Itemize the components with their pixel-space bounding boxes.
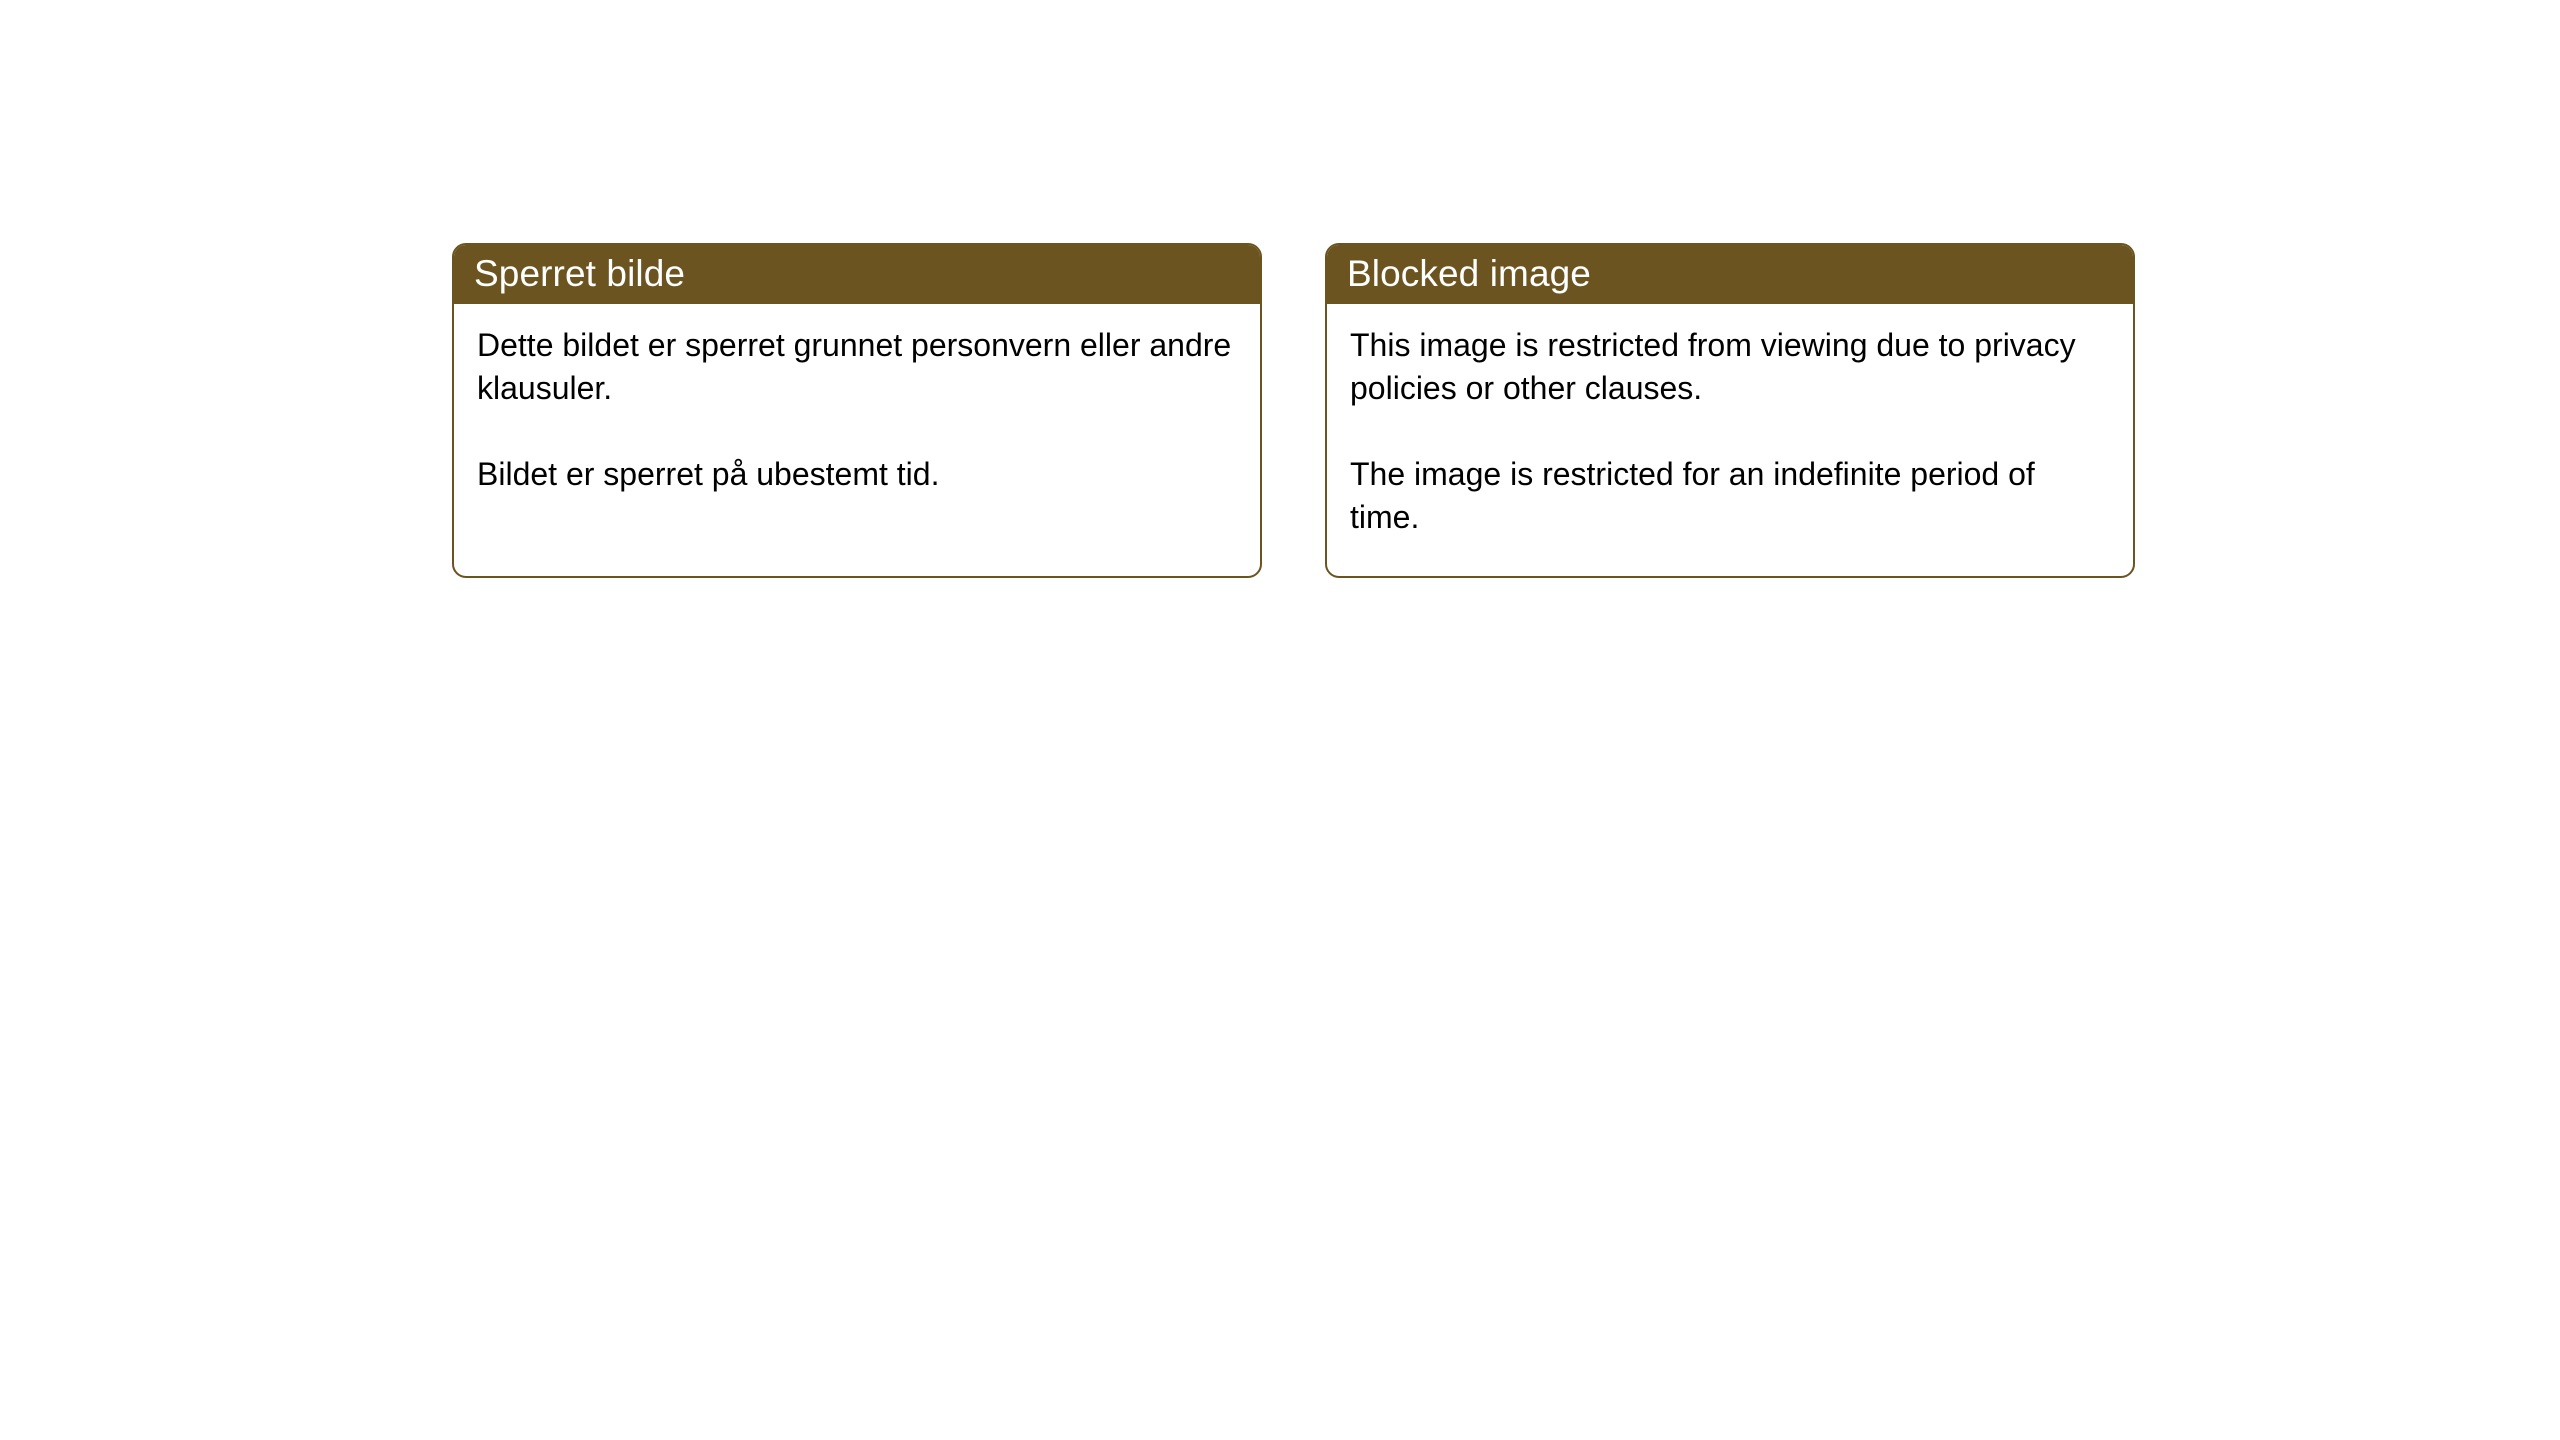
panel-header-english: Blocked image	[1325, 243, 2135, 304]
panel-paragraph-english-1: This image is restricted from viewing du…	[1350, 324, 2109, 410]
blocked-image-notice-area: Sperret bilde Dette bildet er sperret gr…	[0, 0, 2560, 1440]
panel-paragraph-norwegian-1: Dette bildet er sperret grunnet personve…	[477, 324, 1236, 410]
panel-body-norwegian: Dette bildet er sperret grunnet personve…	[454, 304, 1260, 496]
panel-paragraph-english-2: The image is restricted for an indefinit…	[1350, 453, 2109, 539]
panel-title-english: Blocked image	[1347, 255, 1591, 292]
panel-title-norwegian: Sperret bilde	[474, 255, 685, 292]
panel-header-norwegian: Sperret bilde	[452, 243, 1262, 304]
blocked-image-panel-norwegian: Sperret bilde Dette bildet er sperret gr…	[452, 243, 1262, 578]
panel-body-english: This image is restricted from viewing du…	[1327, 304, 2133, 539]
blocked-image-panel-english: Blocked image This image is restricted f…	[1325, 243, 2135, 578]
panel-paragraph-norwegian-2: Bildet er sperret på ubestemt tid.	[477, 453, 1236, 496]
